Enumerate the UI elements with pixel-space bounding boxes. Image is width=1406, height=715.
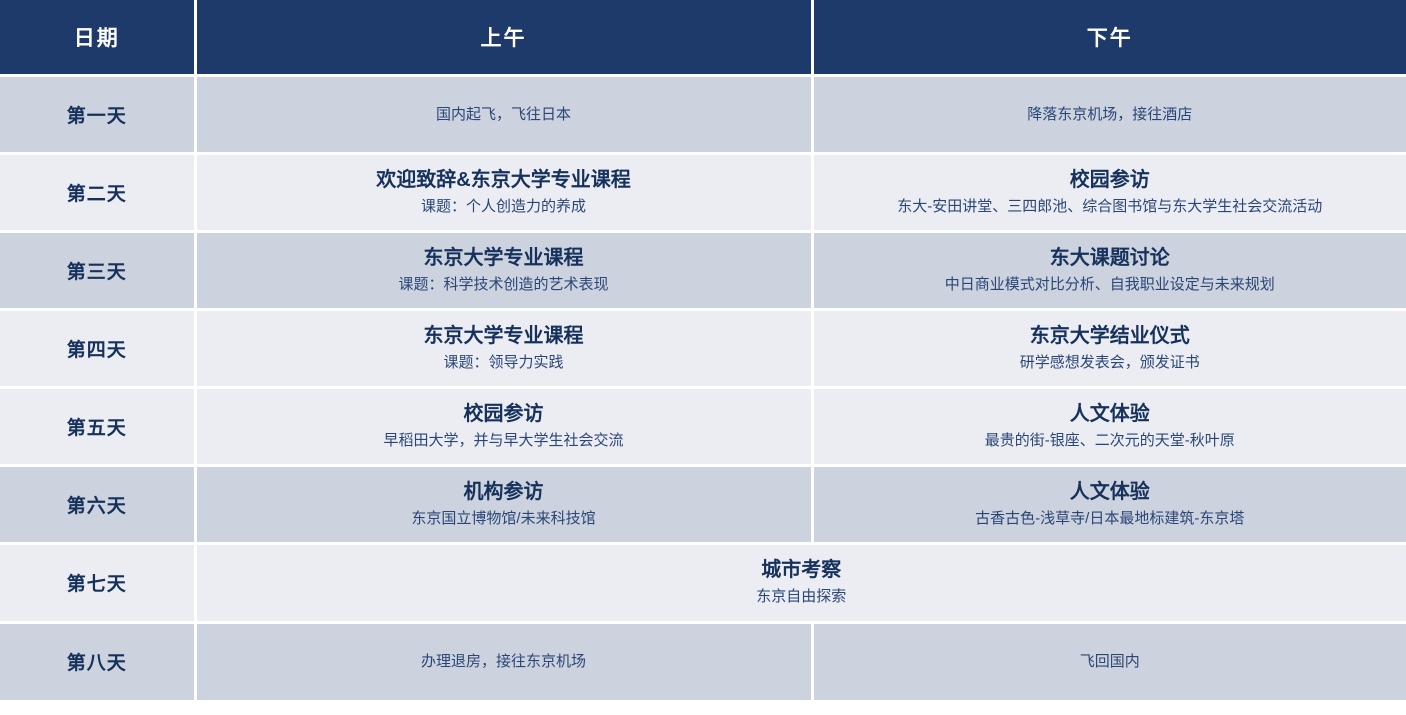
row-day-cell: 第二天	[0, 153, 195, 231]
table-header: 日期 上午 下午	[0, 0, 1406, 75]
morning-title: 东京大学专业课程	[205, 245, 803, 272]
afternoon-text: 飞回国内	[822, 651, 1399, 672]
row-morning-cell: 欢迎致辞&东京大学专业课程 课题：个人创造力的养成	[195, 153, 812, 231]
day-label: 第四天	[8, 335, 186, 362]
day-label: 第三天	[8, 257, 186, 284]
day-label: 第六天	[8, 491, 186, 518]
row-day-cell: 第六天	[0, 465, 195, 543]
row-day-cell: 第五天	[0, 387, 195, 465]
row-morning-cell: 校园参访 早稻田大学，并与早大学生社会交流	[195, 387, 812, 465]
column-header-morning: 上午	[195, 0, 812, 75]
row-morning-cell: 办理退房，接往东京机场	[195, 622, 812, 700]
row-morning-cell: 国内起飞，飞往日本	[195, 75, 812, 153]
table-row: 第三天 东京大学专业课程 课题：科学技术创造的艺术表现 东大课题讨论 中日商业模…	[0, 231, 1406, 309]
row-day-cell: 第一天	[0, 75, 195, 153]
fullday-title: 城市考察	[205, 557, 1399, 584]
day-label: 第五天	[8, 413, 186, 440]
afternoon-title: 东大课题讨论	[822, 245, 1399, 272]
afternoon-subtitle: 古香古色-浅草寺/日本最地标建筑-东京塔	[822, 508, 1399, 530]
row-day-cell: 第七天	[0, 543, 195, 622]
afternoon-text: 降落东京机场，接往酒店	[822, 104, 1399, 125]
table-row: 第四天 东京大学专业课程 课题：领导力实践 东京大学结业仪式 研学感想发表会，颁…	[0, 309, 1406, 387]
day-label: 第八天	[8, 648, 186, 675]
row-fullday-cell: 城市考察 东京自由探索	[195, 543, 1406, 622]
morning-subtitle: 课题：科学技术创造的艺术表现	[205, 274, 803, 296]
morning-title: 校园参访	[205, 401, 803, 428]
day-label: 第二天	[8, 179, 186, 206]
row-afternoon-cell: 人文体验 最贵的街-银座、二次元的天堂-秋叶原	[812, 387, 1406, 465]
day-label: 第一天	[8, 101, 186, 128]
afternoon-title: 校园参访	[822, 167, 1399, 194]
row-morning-cell: 东京大学专业课程 课题：领导力实践	[195, 309, 812, 387]
table-row: 第五天 校园参访 早稻田大学，并与早大学生社会交流 人文体验 最贵的街-银座、二…	[0, 387, 1406, 465]
row-afternoon-cell: 东大课题讨论 中日商业模式对比分析、自我职业设定与未来规划	[812, 231, 1406, 309]
table-row: 第八天 办理退房，接往东京机场 飞回国内	[0, 622, 1406, 700]
afternoon-subtitle: 研学感想发表会，颁发证书	[822, 352, 1399, 374]
fullday-subtitle: 东京自由探索	[205, 586, 1399, 608]
column-header-date: 日期	[0, 0, 195, 75]
morning-subtitle: 课题：领导力实践	[205, 352, 803, 374]
afternoon-title: 人文体验	[822, 479, 1399, 506]
row-afternoon-cell: 降落东京机场，接往酒店	[812, 75, 1406, 153]
morning-text: 国内起飞，飞往日本	[205, 104, 803, 125]
row-afternoon-cell: 东京大学结业仪式 研学感想发表会，颁发证书	[812, 309, 1406, 387]
day-label: 第七天	[8, 569, 186, 596]
itinerary-table: 日期 上午 下午 第一天 国内起飞，飞往日本 降落东京机场，接往酒店 第二天 欢…	[0, 0, 1406, 700]
bottom-spacer	[0, 700, 1406, 715]
table-body: 第一天 国内起飞，飞往日本 降落东京机场，接往酒店 第二天 欢迎致辞&东京大学专…	[0, 75, 1406, 700]
morning-subtitle: 课题：个人创造力的养成	[205, 196, 803, 218]
table-row: 第二天 欢迎致辞&东京大学专业课程 课题：个人创造力的养成 校园参访 东大-安田…	[0, 153, 1406, 231]
afternoon-subtitle: 中日商业模式对比分析、自我职业设定与未来规划	[822, 274, 1399, 296]
row-afternoon-cell: 人文体验 古香古色-浅草寺/日本最地标建筑-东京塔	[812, 465, 1406, 543]
morning-title: 机构参访	[205, 479, 803, 506]
afternoon-title: 人文体验	[822, 401, 1399, 428]
row-day-cell: 第八天	[0, 622, 195, 700]
row-day-cell: 第三天	[0, 231, 195, 309]
morning-subtitle: 早稻田大学，并与早大学生社会交流	[205, 430, 803, 452]
afternoon-subtitle: 最贵的街-银座、二次元的天堂-秋叶原	[822, 430, 1399, 452]
row-morning-cell: 机构参访 东京国立博物馆/未来科技馆	[195, 465, 812, 543]
morning-subtitle: 东京国立博物馆/未来科技馆	[205, 508, 803, 530]
table-row: 第七天 城市考察 东京自由探索	[0, 543, 1406, 622]
morning-title: 东京大学专业课程	[205, 323, 803, 350]
row-afternoon-cell: 校园参访 东大-安田讲堂、三四郎池、综合图书馆与东大学生社会交流活动	[812, 153, 1406, 231]
table-row: 第六天 机构参访 东京国立博物馆/未来科技馆 人文体验 古香古色-浅草寺/日本最…	[0, 465, 1406, 543]
table-row: 第一天 国内起飞，飞往日本 降落东京机场，接往酒店	[0, 75, 1406, 153]
row-afternoon-cell: 飞回国内	[812, 622, 1406, 700]
afternoon-title: 东京大学结业仪式	[822, 323, 1399, 350]
column-header-afternoon: 下午	[812, 0, 1406, 75]
afternoon-subtitle: 东大-安田讲堂、三四郎池、综合图书馆与东大学生社会交流活动	[822, 196, 1399, 218]
morning-title: 欢迎致辞&东京大学专业课程	[205, 167, 803, 194]
row-morning-cell: 东京大学专业课程 课题：科学技术创造的艺术表现	[195, 231, 812, 309]
morning-text: 办理退房，接往东京机场	[205, 651, 803, 672]
table-header-row: 日期 上午 下午	[0, 0, 1406, 75]
row-day-cell: 第四天	[0, 309, 195, 387]
